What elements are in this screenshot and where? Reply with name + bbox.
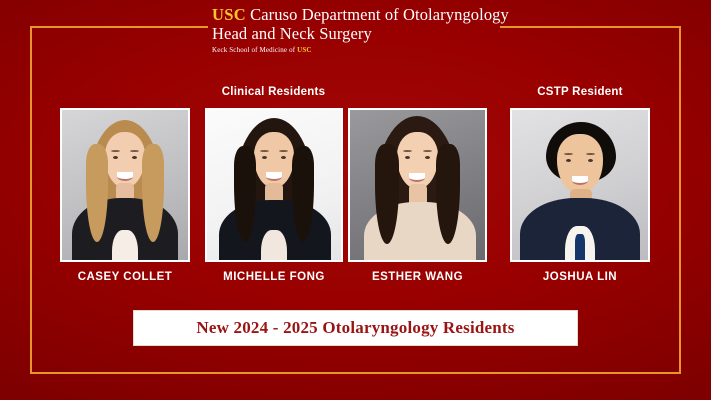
announcement-banner-text: New 2024 - 2025 Otolaryngology Residents — [196, 318, 514, 338]
portrait-photo — [348, 108, 487, 262]
resident-name: JOSHUA LIN — [510, 271, 650, 283]
logo-line-1: USC Caruso Department of Otolaryngology — [212, 6, 502, 25]
group-label-cstp-resident: CSTP Resident — [510, 86, 650, 98]
resident-card: MICHELLE FONG — [205, 108, 343, 283]
necktie-shape — [575, 234, 585, 260]
resident-portrait-row: CASEY COLLET MICHELLE FONG — [0, 108, 711, 288]
neck-shape — [409, 184, 427, 204]
shirt-shape — [112, 230, 138, 260]
smile-shape — [409, 173, 425, 182]
eye-right — [132, 156, 137, 159]
eyebrow-left — [260, 150, 269, 152]
frame-border-bottom — [30, 372, 681, 374]
eyebrow-left — [564, 153, 573, 155]
smile-shape — [572, 176, 588, 185]
logo-subtitle-prefix: Keck School of Medicine of — [212, 46, 297, 54]
resident-card: CASEY COLLET — [60, 108, 190, 283]
face-shape — [557, 134, 603, 194]
eyebrow-right — [423, 150, 432, 152]
portrait-photo — [205, 108, 343, 262]
eye-right — [425, 156, 430, 159]
frame-border-top-left — [30, 26, 208, 28]
eye-left — [405, 156, 410, 159]
logo-department-name: Caruso Department of Otolaryngology — [246, 5, 509, 24]
resident-card: JOSHUA LIN — [510, 108, 650, 283]
logo-subtitle: Keck School of Medicine of USC — [212, 45, 502, 55]
frame-border-top-right — [500, 26, 681, 28]
resident-card: ESTHER WANG — [348, 108, 487, 283]
eye-right — [588, 159, 593, 162]
logo-subtitle-usc: USC — [297, 46, 311, 54]
resident-name: MICHELLE FONG — [205, 271, 343, 283]
presentation-slide: USC Caruso Department of Otolaryngology … — [0, 0, 711, 400]
eyebrow-right — [586, 153, 595, 155]
usc-wordmark: USC — [212, 5, 246, 24]
eyebrow-left — [403, 150, 412, 152]
resident-name: ESTHER WANG — [348, 271, 487, 283]
portrait-photo — [510, 108, 650, 262]
eyebrow-right — [279, 150, 288, 152]
usc-logo-lockup: USC Caruso Department of Otolaryngology … — [212, 6, 502, 55]
eye-right — [281, 156, 286, 159]
group-label-clinical-residents: Clinical Residents — [60, 86, 487, 98]
logo-line-2: Head and Neck Surgery — [212, 25, 502, 44]
smile-shape — [266, 172, 282, 181]
announcement-banner: New 2024 - 2025 Otolaryngology Residents — [133, 310, 578, 346]
eyebrow-left — [111, 150, 120, 152]
resident-name: CASEY COLLET — [60, 271, 190, 283]
portrait-photo — [60, 108, 190, 262]
smile-shape — [117, 172, 133, 181]
eye-left — [566, 159, 571, 162]
eye-left — [113, 156, 118, 159]
eye-left — [262, 156, 267, 159]
eyebrow-right — [130, 150, 139, 152]
shirt-shape — [261, 230, 287, 260]
